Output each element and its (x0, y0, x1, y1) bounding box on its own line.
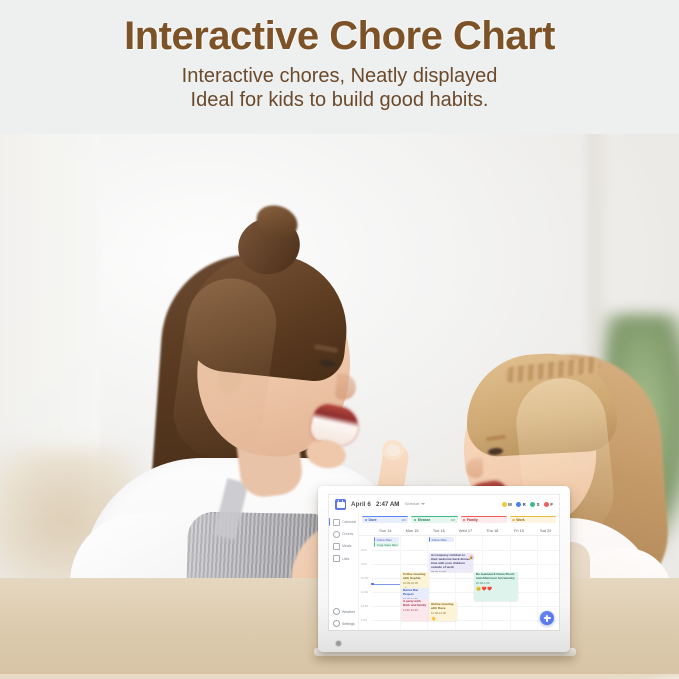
chip-color-dot (365, 519, 367, 521)
category-chip-family[interactable]: Family (461, 516, 507, 524)
event-title: A party with Ruth and family (403, 600, 427, 608)
view-selector-label: Schedule (404, 502, 419, 506)
calendar-event[interactable]: A party with Ruth and family 11:30-12:30 (401, 599, 429, 621)
time-tick: 10:00 (361, 576, 368, 580)
event-title: Dance Bar Project (403, 589, 427, 597)
chip-label: Work (516, 518, 524, 522)
day-header[interactable]: Sun 14 (372, 525, 399, 535)
member-avatar[interactable]: R (516, 502, 525, 507)
sidebar-item-settings[interactable]: Settings (329, 618, 358, 630)
sidebar-item-calendar[interactable]: Calendar (329, 516, 358, 528)
avatar-dot (544, 502, 549, 507)
page-subtitle: Interactive chores, Neatly displayed Ide… (182, 65, 498, 112)
time-tick: 8:00 (361, 548, 367, 552)
event-time: 09:00-10:00 (431, 571, 471, 572)
day-header[interactable]: Mon 15 (399, 525, 426, 535)
event-time: 12:00-12:30 (431, 612, 455, 616)
day-header-row: Sun 14 Mon 15 Tue 16 Wed 17 Thu 18 Fri 1… (359, 525, 559, 536)
sidebar-item-label: Calendar (342, 520, 356, 524)
chip-label: Eleanor (418, 518, 430, 522)
sidebar-item-label: Settings (342, 622, 355, 626)
calendar-grid[interactable]: 8:00 9:00 10:00 11:00 12:00 1:00 (359, 536, 559, 630)
day-header[interactable]: Fri 19 (506, 525, 533, 535)
event-emoji: 😊❤️❤️ (476, 587, 516, 591)
category-chip-work[interactable]: Work (510, 516, 556, 524)
event-title: Coffee meeting with Sophia (403, 573, 427, 581)
chip-count: 4/5 (401, 518, 405, 522)
all-day-event[interactable]: Yoga class 9am (374, 542, 399, 548)
current-time-dot (371, 583, 374, 586)
front-camera-icon (336, 641, 341, 646)
mother-nose (335, 373, 358, 401)
event-time: 11:30-12:30 (403, 609, 427, 613)
calendar-event[interactable]: Dance Bar Project 10:45-11:30 (401, 588, 429, 599)
sparkle-icon (333, 531, 340, 538)
sidebar-item-label: Lists (342, 557, 349, 561)
tablet-screen: April 6 2:47 AM Schedule M R (329, 495, 559, 630)
gear-icon (333, 620, 340, 627)
banner-header: Interactive Chore Chart Interactive chor… (0, 0, 679, 134)
time-tick: 12:00 (361, 604, 368, 608)
event-emoji: 🎉 (469, 556, 474, 560)
subtitle-line-1: Interactive chores, Neatly displayed (182, 65, 498, 87)
tablet-device: April 6 2:47 AM Schedule M R (318, 486, 570, 652)
kitchen-counter-front (0, 674, 679, 679)
chip-color-dot (463, 519, 465, 521)
grid-day-line (537, 536, 538, 630)
day-header[interactable]: Sat 20 (532, 525, 559, 535)
sidebar-item-label: Meals (342, 544, 351, 548)
chip-color-dot (512, 519, 514, 521)
current-time-indicator (372, 584, 400, 585)
day-header[interactable]: Wed 17 (452, 525, 479, 535)
event-title: Accompany children to their welcome back… (431, 554, 471, 569)
weather-icon (333, 608, 340, 615)
avatar-initial: S (537, 502, 540, 507)
chip-color-dot (414, 519, 416, 521)
sidebar-item-lists[interactable]: Lists (329, 553, 358, 565)
member-avatar[interactable]: F (544, 502, 553, 507)
sidebar-item-meals[interactable]: Meals (329, 540, 358, 552)
mother-fingernail (386, 444, 400, 456)
event-time: 10:00-10:45 (403, 582, 427, 586)
calendar-event[interactable]: Re-teamwork Clean Room and Afternoon fun… (474, 572, 518, 601)
chip-label: Family (467, 518, 478, 522)
avatar-initial: R (523, 502, 526, 507)
add-event-button[interactable] (540, 611, 554, 625)
sidebar-item-chores[interactable]: Chores (329, 528, 358, 540)
sidebar-item-weather[interactable]: Weather (329, 606, 358, 618)
sidebar-spacer (329, 565, 358, 606)
avatar-initial: F (550, 502, 553, 507)
product-banner: April 6 2:47 AM Schedule M R (0, 0, 679, 679)
time-tick: 11:00 (361, 590, 368, 594)
time-tick: 1:00 (361, 618, 367, 622)
calendar-main: Dave 4/5 Eleanor 3/3 Family (359, 513, 559, 630)
category-chip-row: Dave 4/5 Eleanor 3/3 Family (359, 513, 559, 525)
all-day-event[interactable]: Chore Plan (429, 537, 454, 543)
avatar-dot (516, 502, 521, 507)
calendar-icon (333, 519, 340, 526)
day-header[interactable]: Thu 18 (479, 525, 506, 535)
member-avatar[interactable]: S (530, 502, 539, 507)
page-title: Interactive Chore Chart (124, 16, 555, 56)
avatar-dot (502, 502, 507, 507)
time-tick: 9:00 (361, 562, 367, 566)
app-body: Calendar Chores Meals Lists (329, 513, 559, 630)
category-chip-dave[interactable]: Dave 4/5 (362, 516, 408, 524)
current-date-label: April 6 (351, 501, 371, 508)
calendar-icon (335, 499, 346, 510)
event-title: Re-teamwork Clean Room and Afternoon fun… (476, 573, 516, 581)
subtitle-line-2: Ideal for kids to build good habits. (182, 89, 498, 113)
list-icon (333, 555, 340, 562)
avatar-dot (530, 502, 535, 507)
current-time-label: 2:47 AM (376, 501, 400, 508)
app-sidebar: Calendar Chores Meals Lists (329, 513, 359, 630)
view-selector[interactable]: Schedule (404, 502, 425, 506)
day-header[interactable]: Tue 16 (425, 525, 452, 535)
calendar-app: April 6 2:47 AM Schedule M R (329, 495, 559, 630)
member-avatars: M R S F (502, 502, 553, 507)
chip-count: 3/3 (451, 518, 455, 522)
avatar-initial: M (508, 502, 512, 507)
calendar-event[interactable]: Accompany children to their welcome back… (429, 553, 473, 572)
event-emoji: 👋 (431, 617, 455, 621)
girl-nose (466, 458, 483, 478)
sidebar-item-label: Weather (342, 610, 355, 614)
category-chip-eleanor[interactable]: Eleanor 3/3 (411, 516, 457, 524)
note-icon (333, 543, 340, 550)
calendar-event[interactable]: Online meeting with Dave 12:00-12:30 👋 (429, 602, 457, 621)
app-topbar: April 6 2:47 AM Schedule M R (329, 495, 559, 513)
calendar-event[interactable]: Coffee meeting with Sophia 10:00-10:45 👍 (401, 572, 429, 588)
sidebar-item-label: Chores (342, 532, 353, 536)
chevron-down-icon (421, 503, 425, 505)
chip-label: Dave (368, 518, 376, 522)
member-avatar[interactable]: M (502, 502, 512, 507)
event-title: Online meeting with Dave (431, 603, 455, 611)
event-time: 10:00-1:00 (476, 582, 516, 586)
